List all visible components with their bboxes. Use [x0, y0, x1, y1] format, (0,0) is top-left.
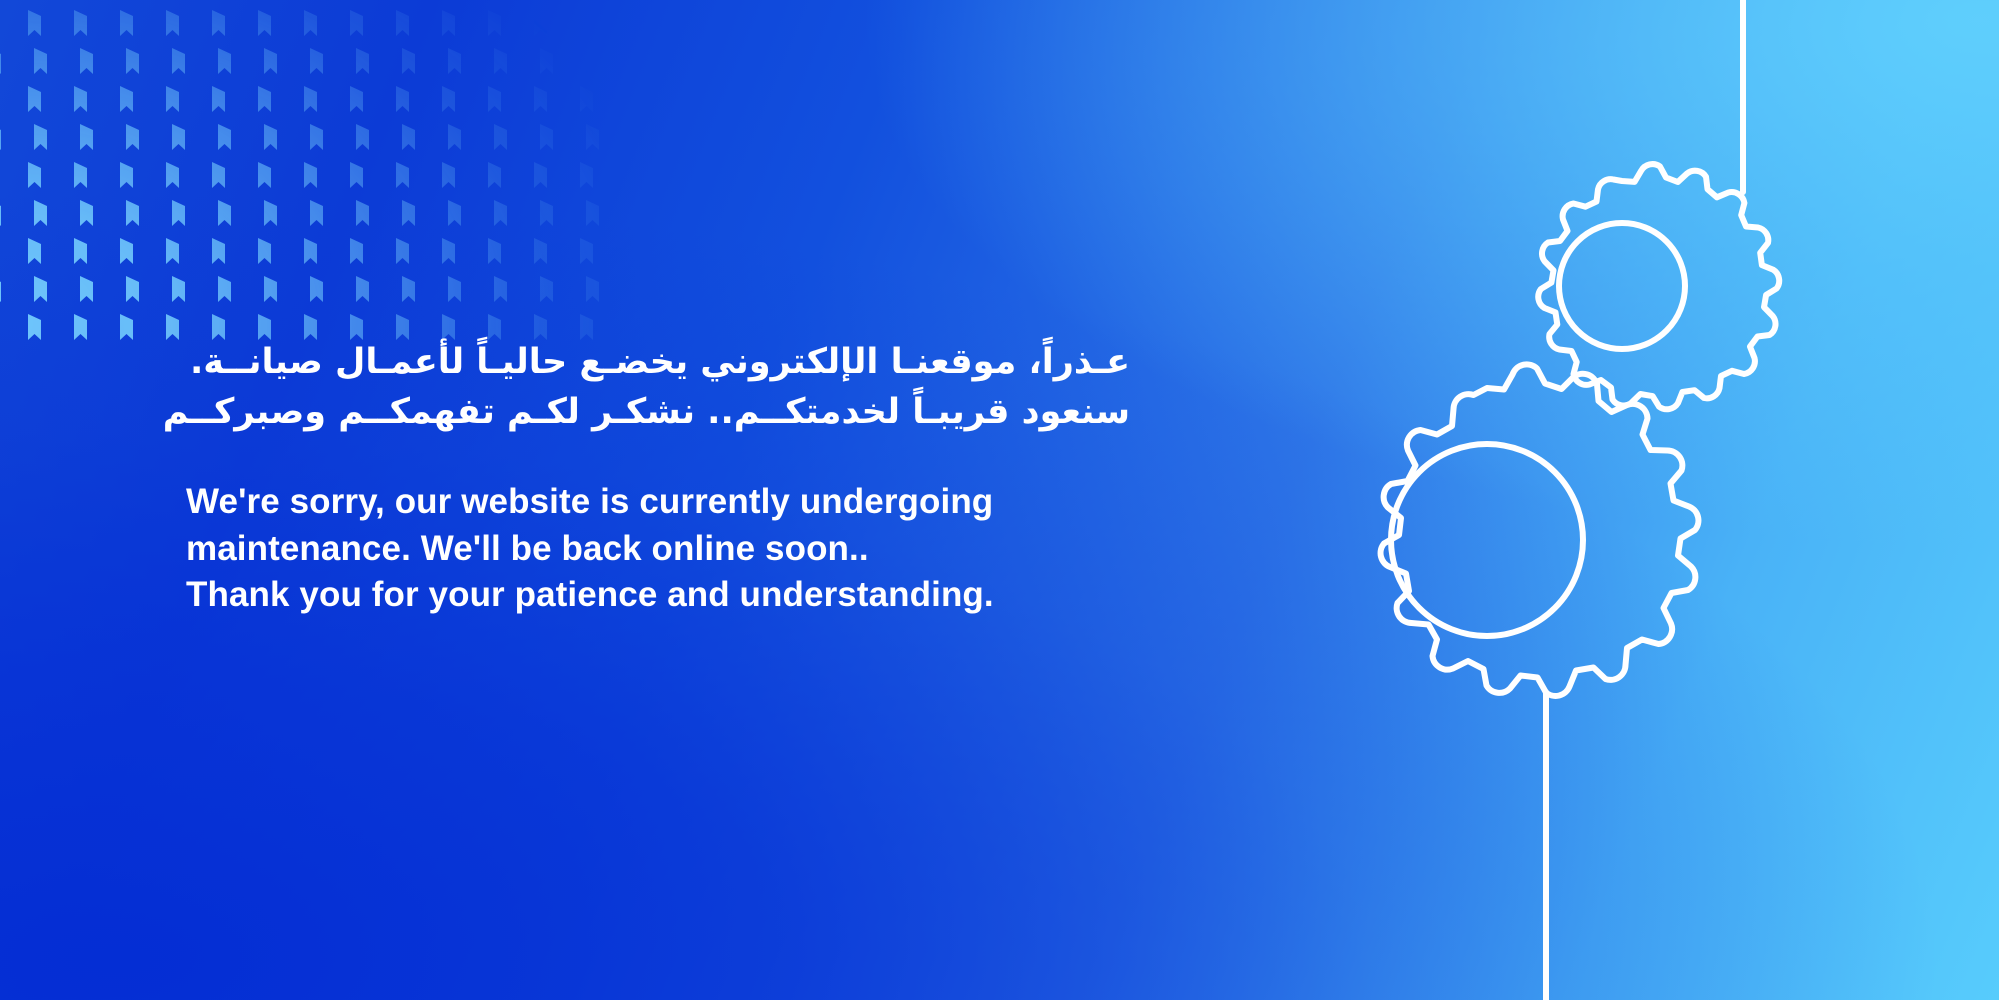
arabic-message: عـذراً، موقعنـا الإلكتروني يخضـع حاليـاً… [186, 338, 1130, 437]
arabic-line-2: سنعود قريبـاً لخدمتكــم.. نشكـر لكـم تفه… [186, 388, 1130, 438]
english-message: We're sorry, our website is currently un… [186, 479, 1186, 618]
message-block: عـذراً، موقعنـا الإلكتروني يخضـع حاليـاً… [186, 338, 1186, 618]
english-line-1: We're sorry, our website is currently un… [186, 479, 1186, 525]
english-line-2: maintenance. We'll be back online soon.. [186, 526, 1186, 572]
maintenance-page: عـذراً، موقعنـا الإلكتروني يخضـع حاليـاً… [0, 0, 1999, 1000]
english-line-3: Thank you for your patience and understa… [186, 572, 1186, 618]
arabic-line-1: عـذراً، موقعنـا الإلكتروني يخضـع حاليـاً… [186, 338, 1130, 388]
